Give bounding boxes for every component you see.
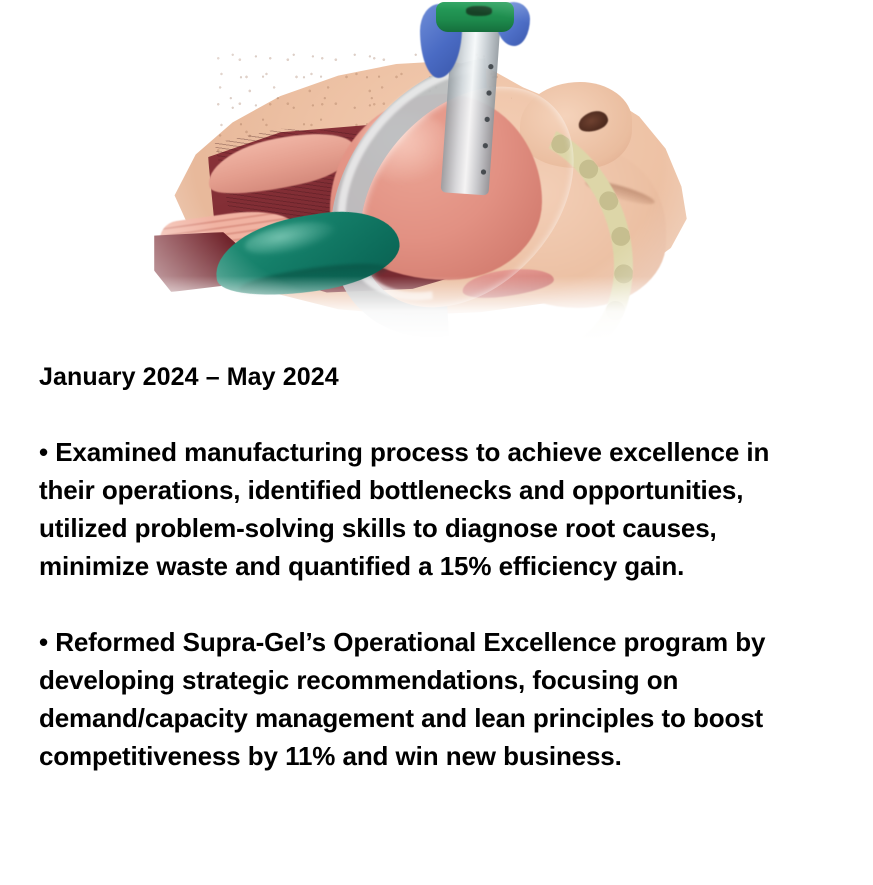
connector-opening [466,6,492,16]
slide-page: January 2024 – May 2024 • Examined manuf… [0,0,873,885]
supraglottic-airway-device-illustration [152,2,704,334]
text-block: January 2024 – May 2024 • Examined manuf… [0,338,873,775]
bullet-item-2: • Reformed Supra-Gel’s Operational Excel… [39,623,829,775]
illustration-block [0,0,873,338]
date-range-heading: January 2024 – May 2024 [39,338,834,394]
bullet-item-1: • Examined manufacturing process to achi… [39,433,829,585]
